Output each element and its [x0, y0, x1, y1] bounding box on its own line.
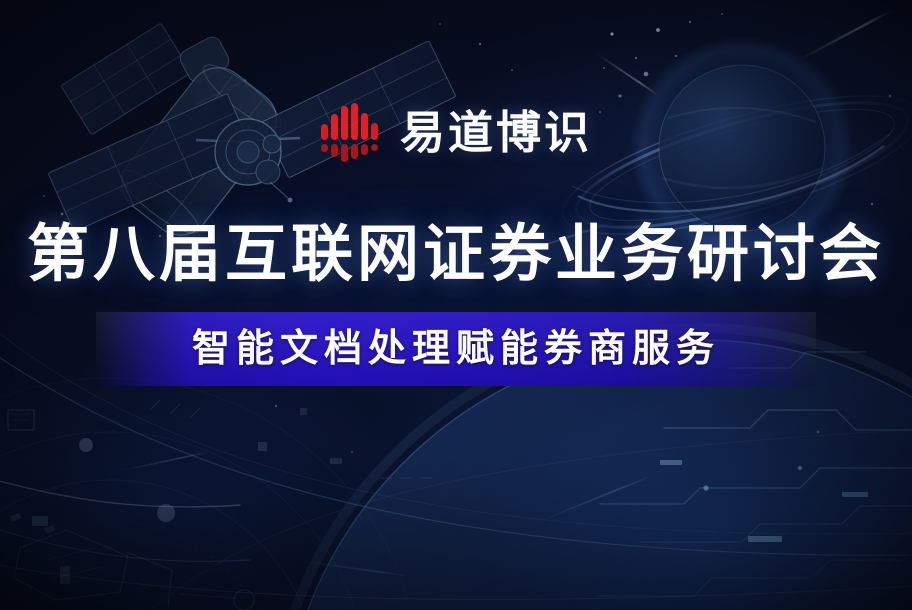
logo-lockup: 易道博识: [0, 96, 912, 168]
conference-banner: 易道博识 第八届互联网证券业务研讨会 智能文档处理赋能券商服务: [0, 0, 912, 610]
page-title: 第八届互联网证券业务研讨会: [0, 224, 912, 286]
page-subtitle: 智能文档处理赋能券商服务: [96, 312, 816, 386]
background-artwork: [0, 0, 912, 610]
waveform-logo-mark: [320, 102, 382, 162]
brand-name: 易道博识: [400, 110, 592, 155]
